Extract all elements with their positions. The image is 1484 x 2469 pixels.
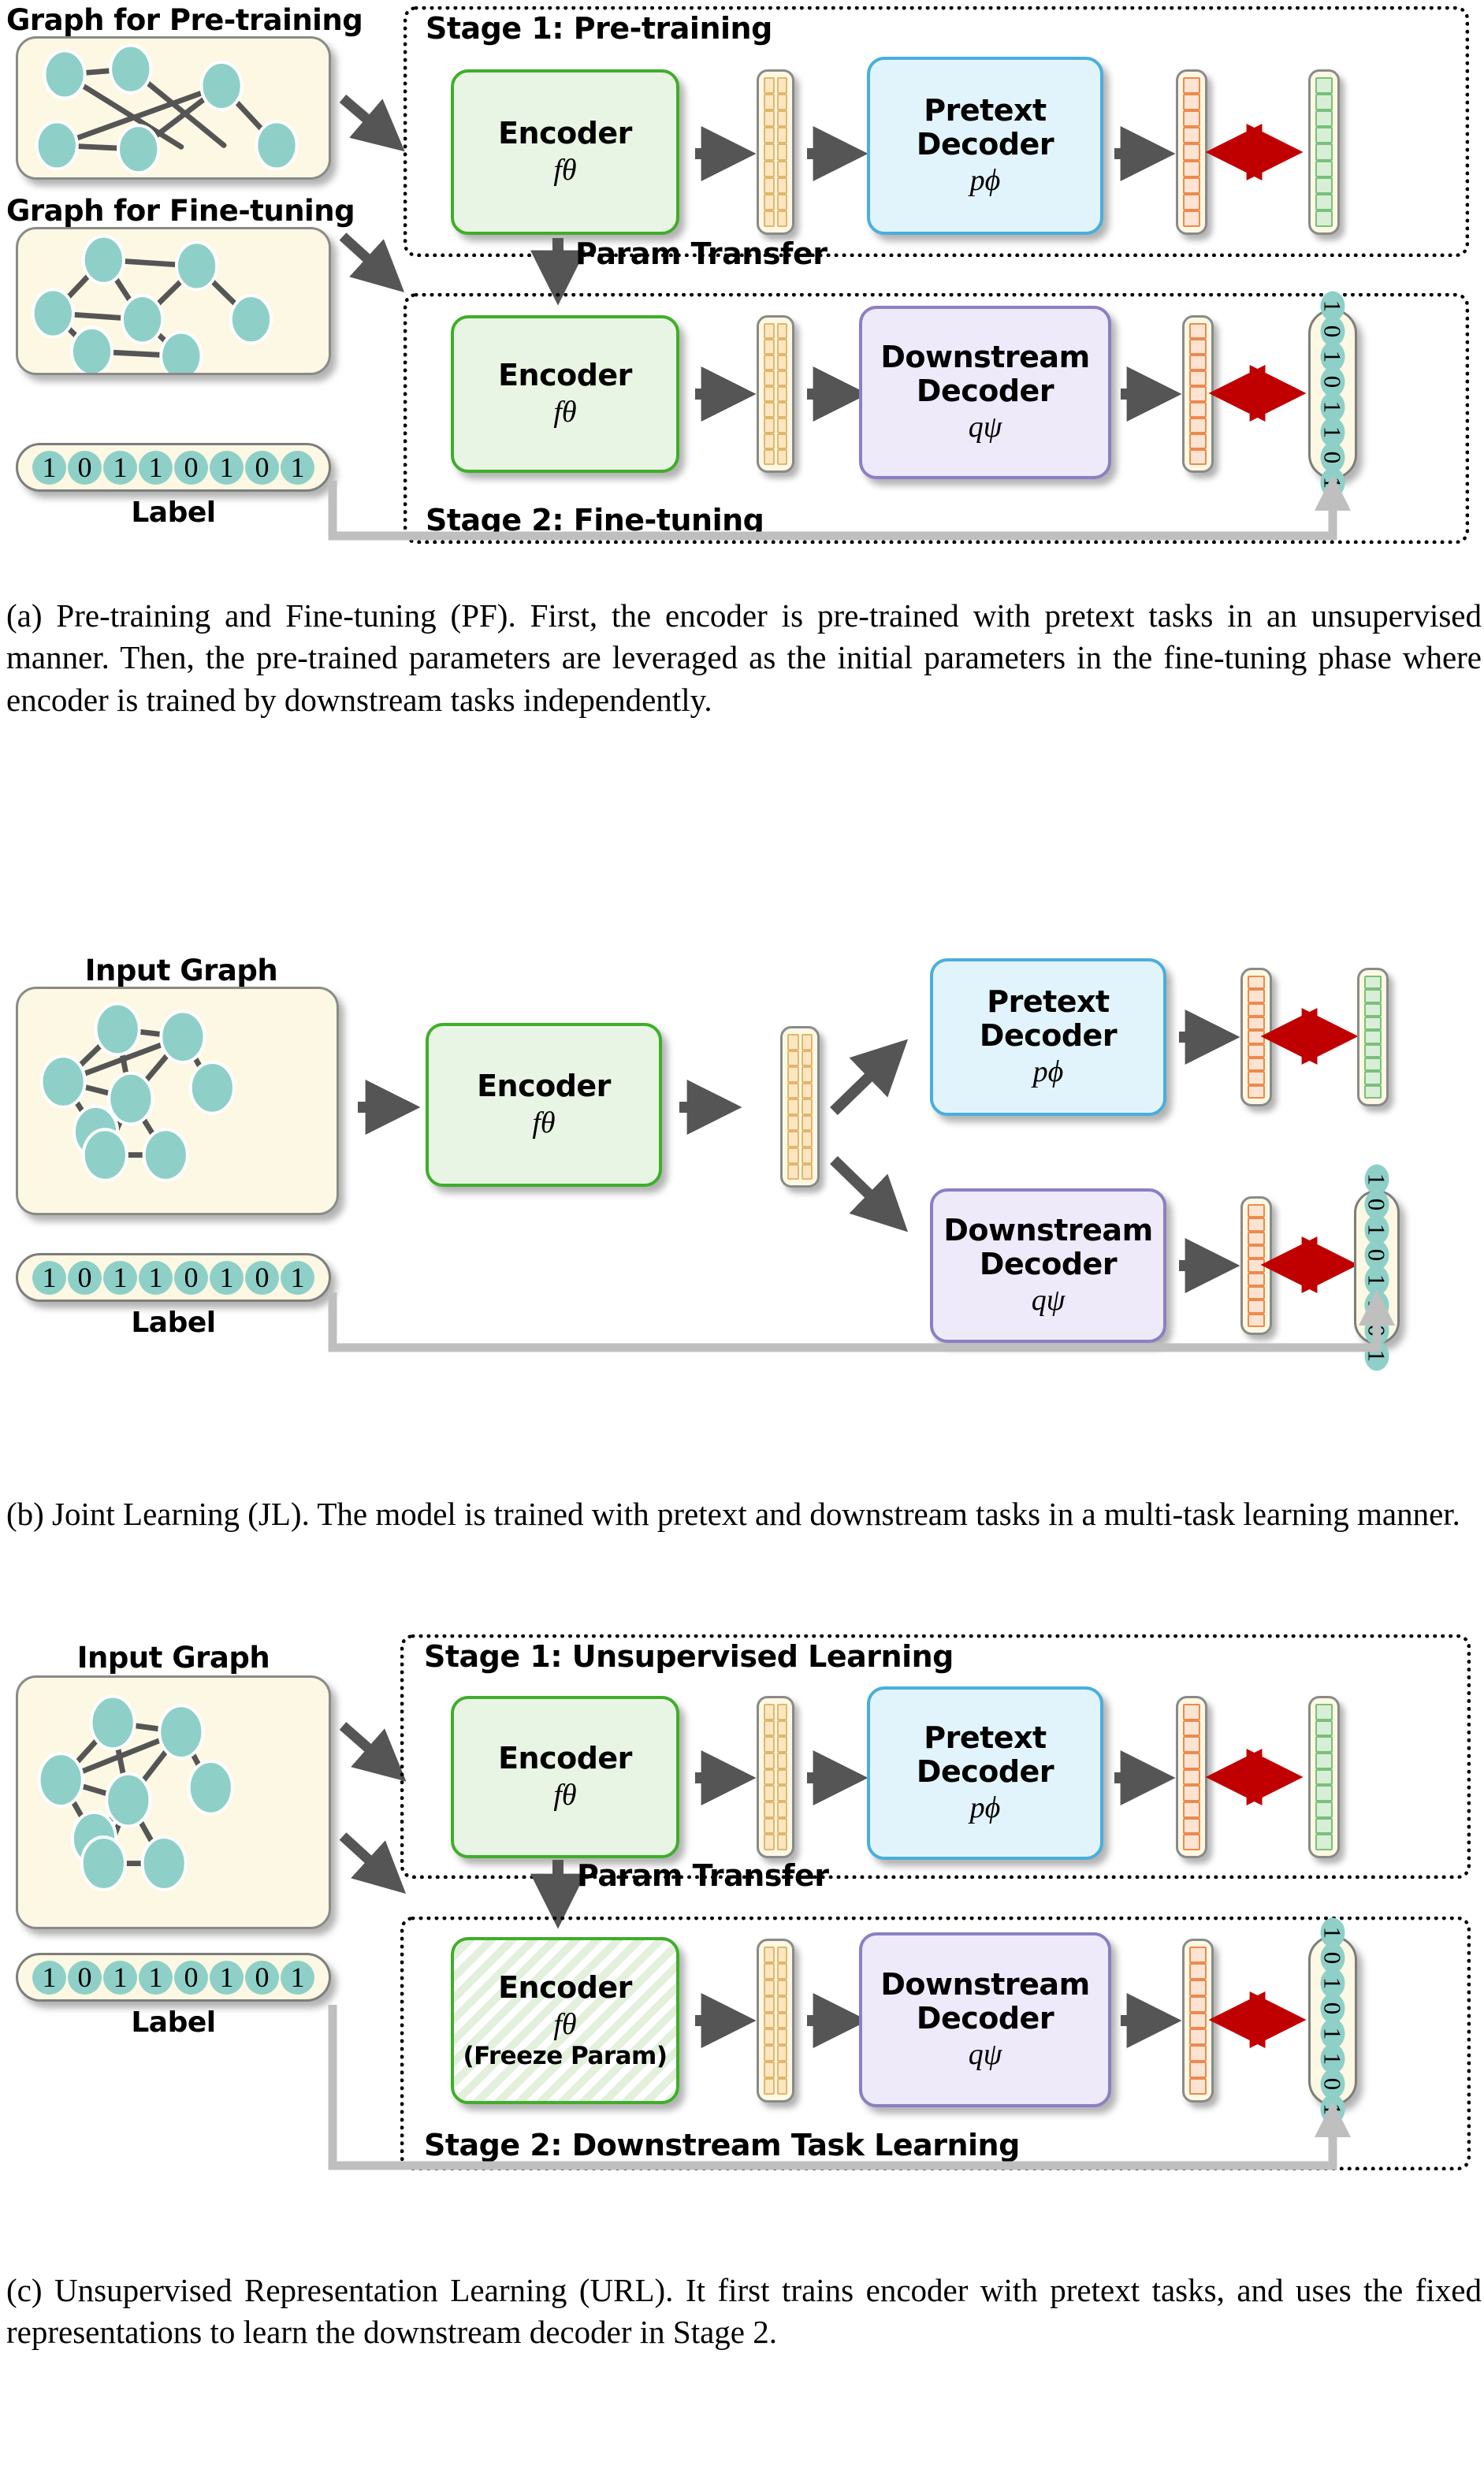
param-transfer-arrow-a: [544, 236, 575, 298]
vector-cell: [1315, 1834, 1333, 1850]
flow-arrow-a1: [694, 138, 746, 169]
pretext-decoder-box-a: Pretext Decoder pϕ: [867, 57, 1103, 235]
vector-cell-row: [1248, 976, 1265, 989]
vector-cell: [777, 94, 788, 110]
label-bit: 1: [210, 1261, 244, 1295]
label-bit: 0: [68, 451, 102, 485]
vector-cell-row: [1315, 1785, 1333, 1802]
label-bit: 0: [68, 1961, 102, 1995]
compare-arrow-b1: [1278, 1017, 1349, 1056]
compare-arrow-c1: [1223, 1757, 1294, 1797]
vector-cell: [1183, 1834, 1200, 1850]
embedding-bar-b: [780, 1026, 820, 1188]
label-bit: 0: [68, 1261, 102, 1295]
flow-arrow-b2: [678, 1091, 733, 1123]
vector-cell-row: [1315, 94, 1333, 110]
input-arrows-c: [339, 1686, 410, 1954]
vector-cell: [1183, 1818, 1200, 1835]
graph-box-input-b: [16, 987, 339, 1215]
vector-cell: [787, 1066, 799, 1083]
vector-cell: [777, 449, 788, 465]
param-transfer-arrow-c: [544, 1858, 575, 1921]
downstream-decoder-title-line2: Decoder: [917, 374, 1054, 408]
encoder-subscript: fθ: [553, 396, 576, 429]
flow-arrow-a4: [694, 378, 746, 410]
graph-title-input-c: Input Graph: [16, 1641, 331, 1675]
vector-cell: [764, 1736, 775, 1753]
vector-cell-row: [1248, 989, 1265, 1002]
vector-cell: [802, 1164, 813, 1181]
vector-cell-row: [764, 143, 787, 160]
vector-cell: [1183, 1720, 1200, 1737]
vector-cell: [1315, 210, 1333, 227]
pretext-decoder-title-line2: Decoder: [917, 1755, 1054, 1789]
vector-cell: [777, 110, 788, 127]
vector-cell: [777, 323, 788, 339]
vector-cell: [764, 1704, 775, 1720]
vector-cell-row: [764, 1947, 787, 1963]
vector-cell: [777, 77, 788, 94]
vector-cell: [1189, 386, 1207, 402]
vector-cell: [777, 433, 788, 449]
pretext-output-bar-c: [1176, 1696, 1207, 1858]
vector-cell-row: [1189, 370, 1207, 386]
vector-cell-row: [787, 1034, 813, 1050]
downstream-decoder-box-a: Downstream Decoder qψ: [859, 306, 1111, 479]
vector-cell-row: [1189, 386, 1207, 402]
vector-cell-row: [1183, 94, 1200, 110]
vector-cell: [787, 1131, 799, 1147]
vector-cell: [764, 1818, 775, 1835]
vector-cell: [1364, 1058, 1382, 1071]
vector-cell-row: [1315, 1802, 1333, 1818]
encoder-box-stage2-a: Encoder fθ: [451, 315, 679, 473]
vector-cell-row: [764, 1769, 787, 1786]
graph-svg-input-b: [18, 989, 337, 1213]
encoder-title: Encoder: [477, 1069, 611, 1103]
vector-cell-row: [1364, 1085, 1382, 1099]
vector-cell-row: [1315, 1720, 1333, 1737]
vector-cell-row: [1364, 1044, 1382, 1058]
caption-b: (b) Joint Learning (JL). The model is tr…: [6, 1493, 1482, 1535]
vector-cell-row: [1183, 110, 1200, 127]
vector-cell-row: [1315, 177, 1333, 194]
caption-a: (a) Pre-training and Fine-tuning (PF). F…: [6, 595, 1482, 721]
pretext-target-bar-a: [1308, 69, 1340, 235]
vector-cell-row: [1183, 127, 1200, 143]
vector-cell-row: [1183, 1704, 1200, 1720]
flow-arrow-a5: [805, 378, 857, 410]
vector-cell-row: [1364, 989, 1382, 1002]
label-feedback-arrow-b: [260, 1285, 1411, 1371]
vector-cell: [777, 210, 788, 227]
vector-cell: [1189, 1963, 1207, 1980]
vector-cell-row: [764, 1818, 787, 1835]
vector-cell: [1183, 1785, 1200, 1802]
embedding-bar-a2: [757, 315, 794, 473]
vector-cell-row: [787, 1131, 813, 1147]
pretext-output-bar-b: [1240, 968, 1272, 1106]
vector-cell: [1183, 1704, 1200, 1720]
vector-cell: [764, 323, 775, 339]
vector-cell: [1183, 1802, 1200, 1818]
vector-cell: [1315, 194, 1333, 210]
vector-cell-row: [1183, 1769, 1200, 1786]
vector-cell: [1364, 989, 1382, 1002]
vector-cell: [777, 386, 788, 402]
vector-cell-row: [1183, 77, 1200, 94]
vector-cell: [764, 127, 775, 143]
pretext-decoder-title-line1: Pretext: [924, 1721, 1046, 1755]
label-bit: 0: [174, 1961, 208, 1995]
graph-title-input-b: Input Graph: [24, 954, 339, 987]
vector-cell-row: [1248, 1232, 1265, 1245]
vector-cell: [777, 1947, 788, 1963]
vector-cell: [777, 177, 788, 194]
vector-cell: [802, 1147, 813, 1164]
vector-cell: [764, 94, 775, 110]
vector-cell-row: [1183, 161, 1200, 177]
pretext-decoder-title-line1: Pretext: [924, 94, 1046, 128]
encoder-box-stage1-a: Encoder fθ: [451, 69, 679, 235]
vector-cell: [1364, 1017, 1382, 1030]
stage1-label-c: Stage 1: Unsupervised Learning: [424, 1639, 954, 1674]
label-bit: 1: [210, 451, 244, 485]
vector-cell: [777, 370, 788, 386]
vector-cell-row: [1189, 433, 1207, 449]
vector-cell: [1248, 989, 1265, 1002]
vector-cell: [802, 1034, 813, 1050]
vector-cell-row: [1183, 177, 1200, 194]
vector-cell: [777, 1769, 788, 1786]
vector-cell-row: [764, 418, 787, 433]
vector-cell: [1248, 1044, 1265, 1058]
label-bit: 1: [32, 1961, 66, 1995]
branch-arrows-b: [829, 985, 932, 1245]
vector-cell-row: [1315, 210, 1333, 227]
vector-cell-row: [1315, 1834, 1333, 1850]
vector-cell-row: [764, 77, 787, 94]
vector-cell: [802, 1083, 813, 1099]
vector-cell-row: [1189, 402, 1207, 418]
vector-cell: [1364, 1003, 1382, 1017]
vector-cell-row: [764, 1753, 787, 1769]
vector-cell: [764, 449, 775, 465]
pretext-decoder-box-c: Pretext Decoder pϕ: [867, 1686, 1103, 1860]
vector-cell: [1248, 1003, 1265, 1017]
vector-cell: [1248, 1218, 1265, 1231]
vector-cell-row: [1183, 1802, 1200, 1818]
vector-cell: [1315, 1736, 1333, 1753]
vector-cell: [764, 194, 775, 210]
vector-cell-row: [1183, 143, 1200, 160]
label-feedback-arrow-a: [260, 473, 1379, 560]
vector-cell-row: [764, 94, 787, 110]
vector-cell: [764, 210, 775, 227]
vector-cell: [1248, 1030, 1265, 1043]
vector-cell-row: [787, 1050, 813, 1067]
pretext-target-bar-c: [1308, 1696, 1340, 1858]
downstream-decoder-title-line1: Downstream: [880, 340, 1089, 374]
vector-cell: [1248, 1071, 1265, 1084]
compare-arrow-a2: [1226, 374, 1297, 413]
vector-cell-row: [764, 449, 787, 465]
vector-cell-row: [1315, 143, 1333, 160]
vector-cell: [1248, 1085, 1265, 1099]
vector-cell-row: [1248, 1044, 1265, 1058]
vector-cell-row: [787, 1099, 813, 1115]
vector-cell: [1315, 1720, 1333, 1737]
vector-cell: [1315, 1753, 1333, 1769]
graph-svg-pretraining: [18, 39, 329, 177]
vector-cell: [764, 161, 775, 177]
pretext-target-bar-b: [1357, 968, 1389, 1106]
vector-cell: [1183, 110, 1200, 127]
encoder-subscript: fθ: [532, 1106, 555, 1140]
vector-cell-row: [1315, 127, 1333, 143]
vector-cell-row: [764, 161, 787, 177]
vector-cell: [777, 418, 788, 433]
vector-cell: [1189, 418, 1207, 433]
vector-cell: [1183, 77, 1200, 94]
vector-cell: [764, 370, 775, 386]
embedding-bar-a1: [757, 69, 794, 235]
flow-arrow-c1: [694, 1762, 746, 1794]
graph-title-pretraining: Graph for Pre-training: [6, 3, 337, 37]
vector-cell-row: [1189, 323, 1207, 339]
downstream-decoder-title-line2: Decoder: [980, 1248, 1117, 1281]
panel-pretraining-finetuning: Graph for Pre-training Graph: [0, 0, 1484, 583]
vector-cell: [1183, 194, 1200, 210]
encoder-subscript: fθ: [553, 1779, 576, 1813]
vector-cell-row: [1248, 1218, 1265, 1231]
vector-cell: [777, 1704, 788, 1720]
vector-cell-row: [787, 1147, 813, 1164]
label-bit: 1: [32, 451, 66, 485]
vector-cell: [1183, 1736, 1200, 1753]
vector-cell-row: [1315, 1753, 1333, 1769]
vector-cell: [1315, 110, 1333, 127]
vector-cell-row: [764, 194, 787, 210]
encoder-title: Encoder: [498, 117, 632, 151]
vector-cell: [1315, 94, 1333, 110]
vector-cell-row: [787, 1066, 813, 1083]
flow-arrow-b1: [356, 1091, 411, 1123]
vector-cell-row: [1315, 1818, 1333, 1835]
vector-cell: [802, 1115, 813, 1132]
vector-cell: [1183, 143, 1200, 160]
vector-cell-row: [787, 1115, 813, 1132]
graph-svg-finetuning: [18, 229, 329, 373]
vector-cell: [1248, 1245, 1265, 1259]
graph-box-finetuning: [16, 227, 331, 375]
vector-cell: [802, 1099, 813, 1115]
input-arrows-a: [339, 47, 402, 378]
vector-cell-row: [764, 386, 787, 402]
vector-cell: [1183, 1769, 1200, 1786]
vector-cell-row: [1364, 1071, 1382, 1084]
vector-cell: [1183, 177, 1200, 194]
vector-cell: [1248, 1259, 1265, 1272]
vector-cell-row: [1315, 194, 1333, 210]
vector-cell-row: [1248, 1017, 1265, 1030]
label-bit: 1: [103, 451, 137, 485]
vector-cell-row: [764, 1720, 787, 1737]
vector-cell: [764, 1769, 775, 1786]
vector-cell: [1315, 1802, 1333, 1818]
vector-cell-row: [1189, 1963, 1207, 1980]
vector-cell: [1189, 402, 1207, 418]
pretext-decoder-subscript: pϕ: [1033, 1055, 1064, 1089]
vector-cell: [1248, 1017, 1265, 1030]
vector-cell-row: [764, 355, 787, 370]
vector-cell-row: [764, 177, 787, 194]
vector-cell: [764, 433, 775, 449]
flow-arrow-a2: [805, 138, 857, 169]
vector-cell: [764, 1720, 775, 1737]
stage1-label-a: Stage 1: Pre-training: [426, 11, 772, 46]
vector-cell-row: [1248, 1003, 1265, 1017]
label-bit: 1: [139, 451, 173, 485]
vector-cell-row: [1248, 1245, 1265, 1259]
vector-cell: [764, 1834, 775, 1850]
vector-cell-row: [1315, 110, 1333, 127]
flow-arrow-a6: [1119, 378, 1171, 410]
vector-cell: [764, 402, 775, 418]
vector-cell-row: [764, 1834, 787, 1850]
vector-cell-row: [1248, 1085, 1265, 1099]
graph-title-finetuning: Graph for Fine-tuning: [6, 194, 337, 228]
vector-cell: [1248, 1204, 1265, 1218]
vector-cell-row: [764, 210, 787, 227]
vector-cell: [1183, 210, 1200, 227]
vector-cell: [777, 1834, 788, 1850]
vector-cell: [777, 1736, 788, 1753]
vector-cell-row: [1183, 1736, 1200, 1753]
vector-cell: [787, 1034, 799, 1050]
vector-cell-row: [787, 1164, 813, 1181]
vector-cell: [764, 355, 775, 370]
ground-truth-pill-a: 10101101: [1308, 309, 1357, 479]
vector-cell-row: [1183, 194, 1200, 210]
vector-cell: [777, 1963, 788, 1980]
label-bit: 1: [139, 1961, 173, 1995]
vector-cell-row: [1315, 1704, 1333, 1720]
vector-cell: [1315, 77, 1333, 94]
param-transfer-label-c: Param Transfer: [577, 1858, 829, 1893]
vector-cell: [1364, 1044, 1382, 1058]
graph-box-input-c: [16, 1675, 331, 1929]
vector-cell: [1189, 355, 1207, 370]
vector-cell: [777, 1802, 788, 1818]
vector-cell: [1183, 127, 1200, 143]
vector-cell-row: [1364, 1058, 1382, 1071]
encoder-title: Encoder: [498, 1742, 632, 1776]
vector-cell: [787, 1115, 799, 1132]
vector-cell: [764, 1785, 775, 1802]
vector-cell: [764, 177, 775, 194]
caption-c: (c) Unsupervised Representation Learning…: [6, 2270, 1482, 2354]
vector-cell-row: [764, 1802, 787, 1818]
vector-cell-row: [1364, 976, 1382, 989]
label-bit: 1: [103, 1261, 137, 1295]
downstream-decoder-title-line1: Downstream: [943, 1214, 1152, 1248]
vector-cell: [802, 1050, 813, 1067]
encoder-box-b: Encoder fθ: [426, 1023, 662, 1187]
vector-cell: [1364, 1071, 1382, 1084]
pretext-decoder-subscript: pϕ: [970, 1791, 1001, 1825]
vector-cell-row: [1315, 1769, 1333, 1786]
encoder-box-stage1-c: Encoder fθ: [451, 1696, 679, 1858]
vector-cell-row: [1189, 1947, 1207, 1963]
vector-cell-row: [1189, 449, 1207, 465]
pretext-decoder-title-line2: Decoder: [917, 128, 1054, 162]
vector-cell: [787, 1099, 799, 1115]
vector-cell-row: [1183, 1834, 1200, 1850]
graph-box-pretraining: [16, 36, 331, 180]
vector-cell-row: [1315, 77, 1333, 94]
vector-cell-row: [764, 1704, 787, 1720]
vector-cell-row: [1315, 161, 1333, 177]
vector-cell: [777, 194, 788, 210]
vector-cell-row: [764, 1963, 787, 1980]
vector-cell: [1315, 1818, 1333, 1835]
panel-joint-learning: Input Graph: [0, 938, 1484, 1458]
label-feedback-arrow-c: [260, 1984, 1379, 2189]
downstream-output-bar-a: [1182, 315, 1214, 473]
pretext-decoder-subscript: pϕ: [970, 164, 1001, 198]
vector-cell: [777, 1785, 788, 1802]
pretext-decoder-title-line1: Pretext: [987, 985, 1109, 1019]
vector-cell: [1315, 143, 1333, 160]
vector-cell-row: [1248, 1259, 1265, 1272]
vector-cell: [764, 1753, 775, 1769]
vector-cell: [1189, 339, 1207, 355]
vector-cell: [764, 1963, 775, 1980]
vector-cell: [1315, 1769, 1333, 1786]
vector-cell-row: [1248, 1204, 1265, 1218]
vector-cell: [787, 1050, 799, 1067]
vector-cell: [1315, 161, 1333, 177]
vector-cell: [1315, 1704, 1333, 1720]
vector-cell: [787, 1164, 799, 1181]
vector-cell: [802, 1066, 813, 1083]
flow-arrow-c2: [805, 1762, 857, 1794]
vector-cell: [1315, 177, 1333, 194]
flow-arrow-b4: [1177, 1250, 1229, 1281]
flow-arrow-a3: [1113, 138, 1165, 169]
vector-cell: [777, 339, 788, 355]
vector-cell-row: [1183, 1818, 1200, 1835]
vector-cell: [1189, 1947, 1207, 1963]
vector-cell: [1183, 94, 1200, 110]
vector-cell-row: [1189, 339, 1207, 355]
pretext-output-bar-a: [1176, 69, 1207, 235]
vector-cell: [1315, 127, 1333, 143]
vector-cell: [777, 161, 788, 177]
vector-cell: [764, 110, 775, 127]
vector-cell-row: [764, 1785, 787, 1802]
vector-cell-row: [764, 1736, 787, 1753]
vector-cell-row: [1183, 1753, 1200, 1769]
vector-cell-row: [1248, 1071, 1265, 1084]
param-transfer-label-a: Param Transfer: [575, 236, 828, 271]
encoder-subscript: fθ: [553, 154, 576, 188]
vector-cell-row: [1183, 1785, 1200, 1802]
vector-cell-row: [1364, 1003, 1382, 1017]
vector-cell: [1364, 1030, 1382, 1043]
vector-cell-row: [787, 1083, 813, 1099]
